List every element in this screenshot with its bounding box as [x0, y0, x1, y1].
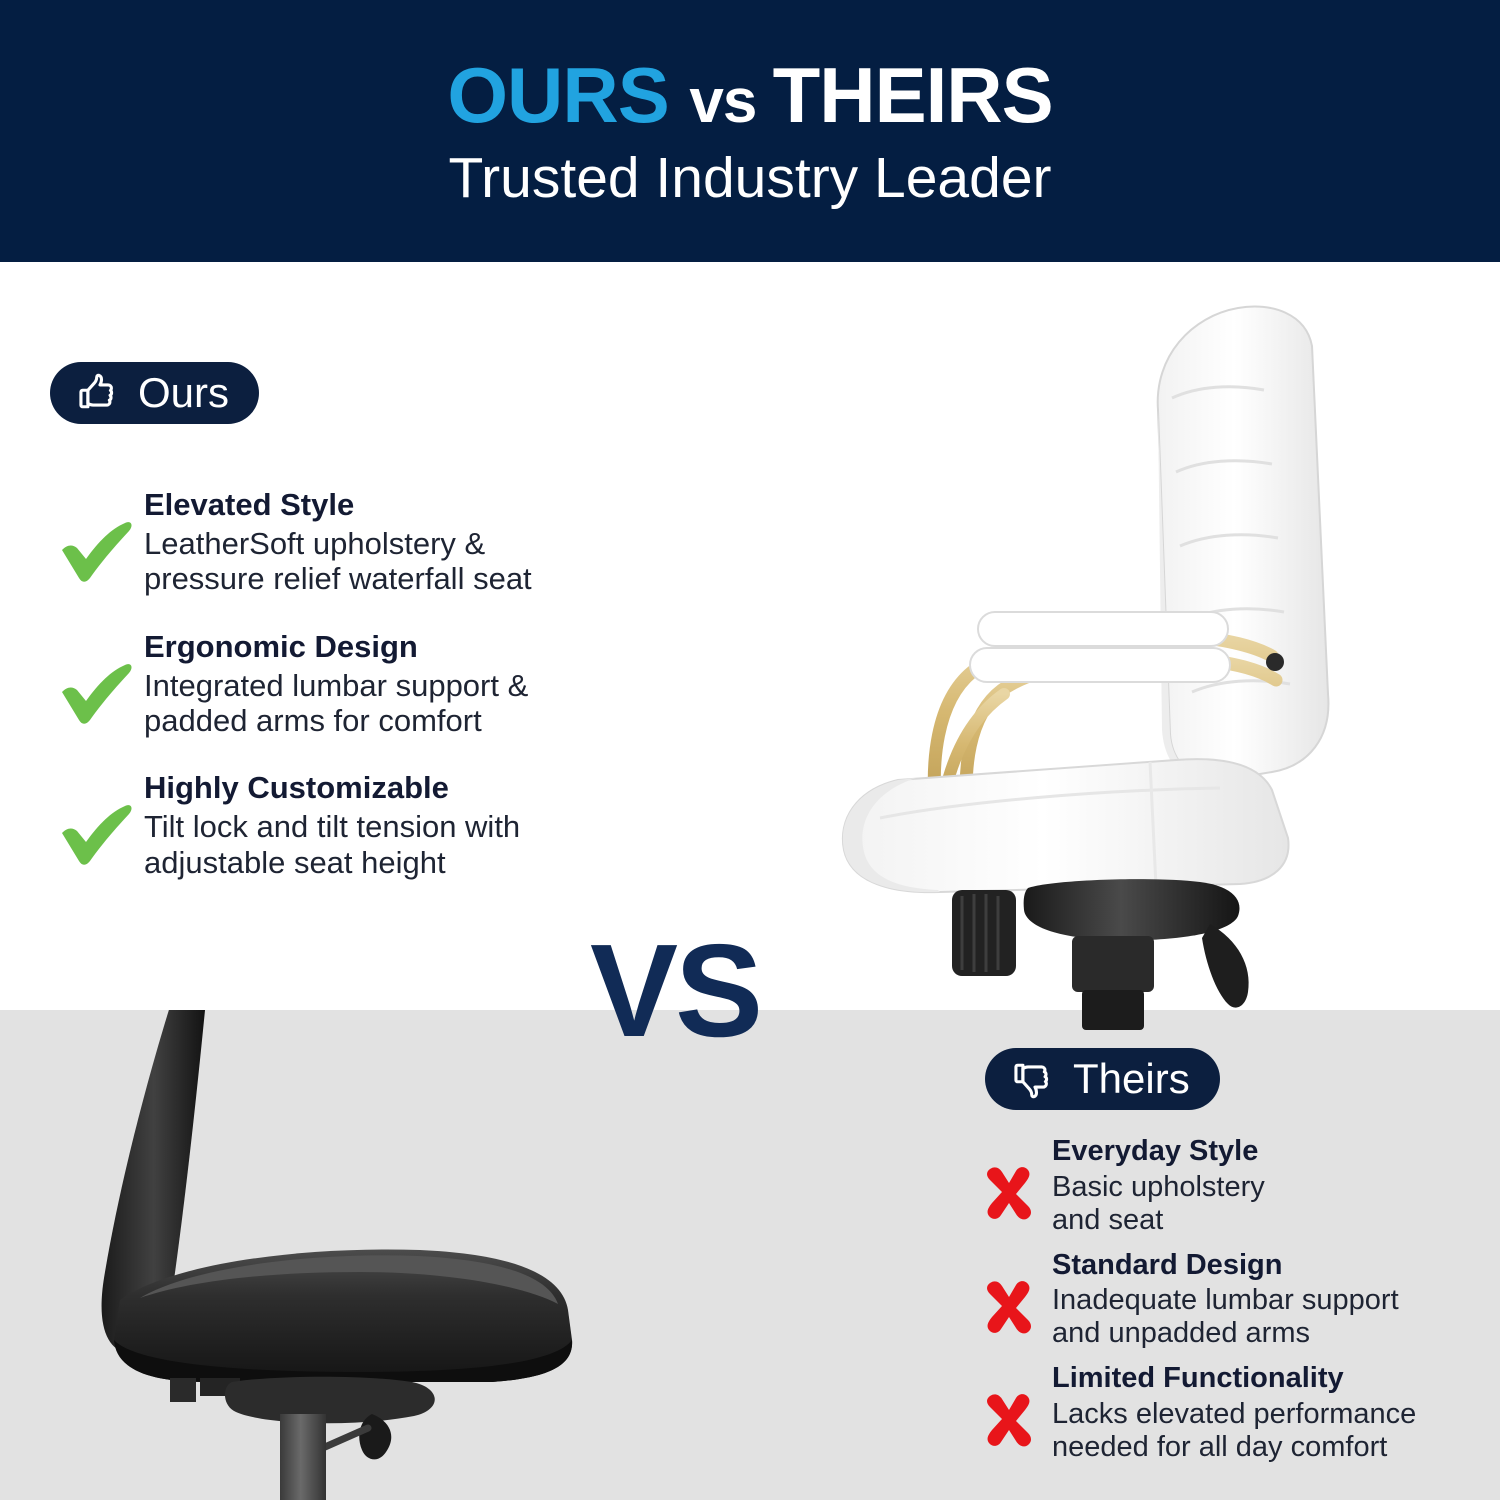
header-banner: OURS vs THEIRS Trusted Industry Leader	[0, 0, 1500, 262]
list-item: Everyday Style Basic upholsteryand seat	[966, 1135, 1486, 1237]
theirs-badge-label: Theirs	[1073, 1058, 1190, 1100]
page-title: OURS vs THEIRS	[447, 56, 1052, 134]
theirs-feature-list: Everyday Style Basic upholsteryand seat …	[966, 1135, 1486, 1476]
list-item-desc: Tilt lock and tilt tension withadjustabl…	[144, 809, 618, 880]
green-check-icon	[48, 487, 144, 583]
list-item: Ergonomic Design Integrated lumbar suppo…	[48, 629, 618, 739]
title-theirs: THEIRS	[773, 51, 1053, 139]
green-check-icon	[48, 770, 144, 866]
red-x-icon	[966, 1362, 1052, 1450]
list-item-desc: Basic upholsteryand seat	[1052, 1171, 1486, 1237]
list-item: Limited Functionality Lacks elevated per…	[966, 1362, 1486, 1464]
ours-feature-list: Elevated Style LeatherSoft upholstery &p…	[48, 487, 618, 912]
list-item-title: Standard Design	[1052, 1249, 1486, 1283]
theirs-chair-image	[0, 1010, 640, 1500]
page-subtitle: Trusted Industry Leader	[448, 150, 1051, 207]
list-item: Elevated Style LeatherSoft upholstery &p…	[48, 487, 618, 597]
list-item-title: Highly Customizable	[144, 770, 618, 806]
thumbs-up-icon	[76, 371, 120, 415]
red-x-icon	[966, 1135, 1052, 1223]
list-item-title: Limited Functionality	[1052, 1362, 1486, 1396]
title-vs: vs	[689, 67, 772, 136]
list-item-desc: LeatherSoft upholstery &pressure relief …	[144, 526, 618, 597]
green-check-icon	[48, 629, 144, 725]
list-item-desc: Inadequate lumbar supportand unpadded ar…	[1052, 1284, 1486, 1350]
title-ours: OURS	[447, 51, 668, 139]
list-item-title: Everyday Style	[1052, 1135, 1486, 1169]
red-x-icon	[966, 1249, 1052, 1337]
list-item: Highly Customizable Tilt lock and tilt t…	[48, 770, 618, 880]
ours-badge-label: Ours	[138, 372, 229, 414]
vs-divider-label: VS	[590, 925, 760, 1057]
theirs-badge: Theirs	[985, 1048, 1220, 1110]
list-item: Standard Design Inadequate lumbar suppor…	[966, 1249, 1486, 1351]
ours-badge: Ours	[50, 362, 259, 424]
list-item-desc: Integrated lumbar support &padded arms f…	[144, 668, 618, 739]
list-item-title: Ergonomic Design	[144, 629, 618, 665]
thumbs-down-icon	[1011, 1057, 1055, 1101]
list-item-title: Elevated Style	[144, 487, 618, 523]
ours-chair-image	[820, 290, 1500, 1030]
list-item-desc: Lacks elevated performanceneeded for all…	[1052, 1398, 1486, 1464]
